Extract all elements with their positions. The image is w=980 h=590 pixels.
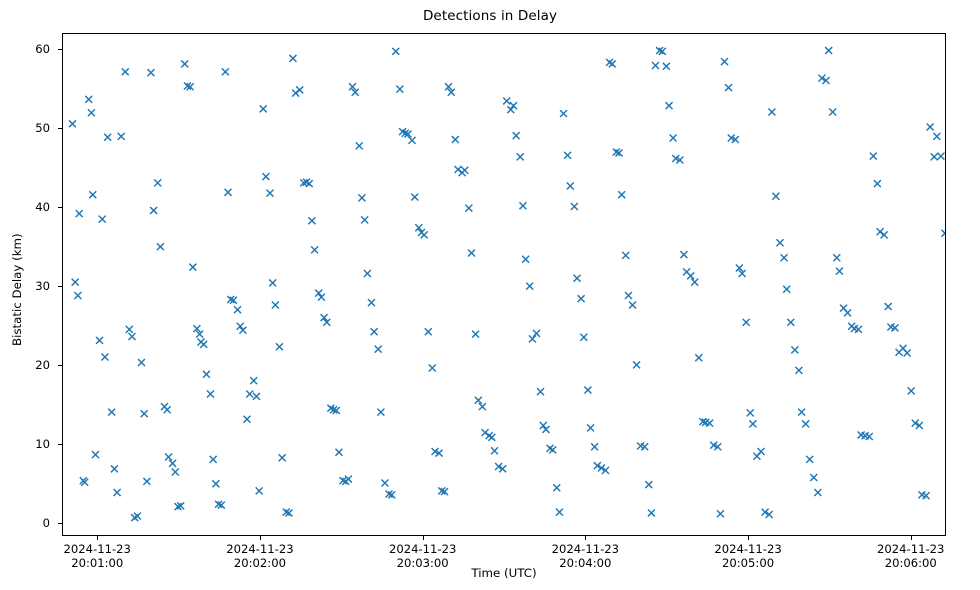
scatter-point xyxy=(618,191,625,198)
scatter-point xyxy=(234,306,241,313)
scatter-point xyxy=(101,353,108,360)
scatter-point xyxy=(147,69,154,76)
y-tick-mark xyxy=(58,286,62,287)
scatter-point xyxy=(584,387,591,394)
scatter-point xyxy=(465,205,472,212)
scatter-point xyxy=(783,286,790,293)
scatter-point xyxy=(580,334,587,341)
y-tick-label: 10 xyxy=(0,437,50,451)
scatter-point xyxy=(392,48,399,55)
scatter-point xyxy=(452,136,459,143)
y-tick-label: 20 xyxy=(0,358,50,372)
scatter-point xyxy=(791,346,798,353)
y-axis-label: Bistatic Delay (km) xyxy=(10,236,24,346)
scatter-point xyxy=(609,60,616,67)
y-tick-label: 50 xyxy=(0,121,50,135)
scatter-point xyxy=(652,62,659,69)
scatter-point xyxy=(513,132,520,139)
scatter-point xyxy=(225,189,232,196)
scatter-point xyxy=(472,331,479,338)
scatter-point xyxy=(69,120,76,127)
scatter-point xyxy=(747,409,754,416)
scatter-point xyxy=(421,231,428,238)
scatter-point xyxy=(296,86,303,93)
scatter-point xyxy=(381,480,388,487)
scatter-point xyxy=(680,251,687,258)
scatter-point xyxy=(461,167,468,174)
scatter-point xyxy=(567,183,574,190)
scatter-point xyxy=(237,323,244,330)
scatter-point xyxy=(758,448,765,455)
scatter-point xyxy=(749,420,756,427)
scatter-point xyxy=(776,239,783,246)
scatter-point xyxy=(691,279,698,286)
scatter-point xyxy=(633,361,640,368)
scatter-point xyxy=(529,335,536,342)
x-tick-mark xyxy=(423,536,424,540)
scatter-point xyxy=(725,84,732,91)
y-tick-mark xyxy=(58,207,62,208)
scatter-point xyxy=(622,252,629,259)
scatter-point xyxy=(829,108,836,115)
scatter-point xyxy=(262,173,269,180)
y-tick-label: 30 xyxy=(0,279,50,293)
scatter-point xyxy=(825,47,832,54)
scatter-point xyxy=(375,346,382,353)
scatter-point xyxy=(89,191,96,198)
scatter-point xyxy=(885,303,892,310)
scatter-point xyxy=(772,193,779,200)
scatter-point xyxy=(814,489,821,496)
scatter-point xyxy=(222,68,229,75)
scatter-point xyxy=(141,410,148,417)
scatter-point xyxy=(276,343,283,350)
scatter-point xyxy=(687,272,694,279)
y-tick-mark xyxy=(58,49,62,50)
scatter-point xyxy=(356,142,363,149)
x-tick-mark xyxy=(260,536,261,540)
scatter-point xyxy=(289,55,296,62)
scatter-point xyxy=(128,333,135,340)
scatter-point xyxy=(203,371,210,378)
scatter-point xyxy=(143,478,150,485)
scatter-point xyxy=(648,509,655,516)
scatter-point xyxy=(368,299,375,306)
scatter-point xyxy=(118,133,125,140)
scatter-point xyxy=(189,264,196,271)
scatter-point xyxy=(169,460,176,467)
scatter-point xyxy=(181,60,188,67)
scatter-point xyxy=(315,290,322,297)
scatter-point xyxy=(591,443,598,450)
scatter-point xyxy=(522,256,529,263)
matplotlib-figure: Detections in Delay 2024-11-2320:01:0020… xyxy=(0,0,980,590)
scatter-point xyxy=(92,451,99,458)
scatter-point xyxy=(553,484,560,491)
scatter-point xyxy=(743,319,750,326)
scatter-point xyxy=(411,194,418,201)
scatter-point xyxy=(645,481,652,488)
scatter-point xyxy=(488,434,495,441)
scatter-point xyxy=(409,137,416,144)
scatter-point xyxy=(468,250,475,257)
scatter-point xyxy=(908,387,915,394)
scatter-point xyxy=(578,295,585,302)
scatter-point xyxy=(269,279,276,286)
y-tick-mark xyxy=(58,365,62,366)
scatter-point xyxy=(250,377,257,384)
scatter-point xyxy=(833,254,840,261)
scatter-point xyxy=(200,341,207,348)
scatter-point xyxy=(503,97,510,104)
scatter-point xyxy=(104,134,111,141)
scatter-point xyxy=(787,319,794,326)
scatter-point xyxy=(479,403,486,410)
scatter-point xyxy=(927,123,934,130)
scatter-point xyxy=(318,294,325,301)
scatter-point xyxy=(874,180,881,187)
x-tick-mark xyxy=(585,536,586,540)
scatter-point xyxy=(134,513,141,520)
scatter-point xyxy=(507,106,514,113)
scatter-point xyxy=(266,190,273,197)
scatter-point xyxy=(364,270,371,277)
scatter-point xyxy=(533,330,540,337)
scatter-point xyxy=(526,283,533,290)
scatter-point xyxy=(663,63,670,70)
scatter-point xyxy=(345,476,352,483)
scatter-point xyxy=(243,416,250,423)
scatter-point xyxy=(844,309,851,316)
scatter-point xyxy=(108,409,115,416)
scatter-point xyxy=(272,301,279,308)
scatter-point xyxy=(138,359,145,366)
scatter-point xyxy=(556,509,563,516)
scatter-point xyxy=(781,254,788,261)
scatter-point xyxy=(802,420,809,427)
x-tick-mark xyxy=(748,536,749,540)
scatter-point xyxy=(721,58,728,65)
scatter-point xyxy=(625,292,632,299)
scatter-point xyxy=(931,153,938,160)
scatter-point xyxy=(96,337,103,344)
scatter-point xyxy=(933,133,940,140)
scatter-point xyxy=(542,426,549,433)
scatter-point xyxy=(396,86,403,93)
scatter-point xyxy=(361,216,368,223)
scatter-point xyxy=(311,246,318,253)
scatter-point xyxy=(164,406,171,413)
scatter-point xyxy=(377,409,384,416)
scatter-point xyxy=(279,454,286,461)
scatter-point xyxy=(798,409,805,416)
scatter-point xyxy=(806,456,813,463)
scatter-point xyxy=(564,152,571,159)
plot-axes-area xyxy=(62,33,946,536)
scatter-point xyxy=(85,96,92,103)
scatter-point xyxy=(870,153,877,160)
scatter-point xyxy=(881,231,888,238)
scatter-point xyxy=(537,388,544,395)
scatter-point xyxy=(239,327,246,334)
scatter-point xyxy=(768,108,775,115)
scatter-point xyxy=(475,397,482,404)
scatter-point xyxy=(207,391,214,398)
scatter-point xyxy=(429,365,436,372)
scatter-point xyxy=(666,102,673,109)
scatter-point xyxy=(88,109,95,116)
scatter-point xyxy=(74,292,81,299)
scatter-point xyxy=(99,216,106,223)
scatter-point xyxy=(306,180,313,187)
scatter-point xyxy=(72,279,79,286)
scatter-point xyxy=(670,134,677,141)
y-tick-mark xyxy=(58,444,62,445)
scatter-point xyxy=(154,179,161,186)
scatter-point xyxy=(425,328,432,335)
chart-title: Detections in Delay xyxy=(0,8,980,24)
scatter-point xyxy=(111,465,118,472)
scatter-point xyxy=(571,203,578,210)
scatter-point xyxy=(491,447,498,454)
y-tick-mark xyxy=(58,523,62,524)
scatter-point xyxy=(126,326,133,333)
y-tick-label: 40 xyxy=(0,200,50,214)
scatter-point xyxy=(308,217,315,224)
scatter-points-layer xyxy=(63,34,945,535)
scatter-point xyxy=(157,243,164,250)
scatter-point xyxy=(574,275,581,282)
scatter-point xyxy=(810,474,817,481)
scatter-point xyxy=(358,194,365,201)
scatter-point xyxy=(165,454,172,461)
scatter-point xyxy=(150,207,157,214)
scatter-point xyxy=(517,153,524,160)
scatter-point xyxy=(795,367,802,374)
scatter-point xyxy=(937,153,944,160)
scatter-point xyxy=(717,510,724,517)
scatter-point xyxy=(76,210,83,217)
scatter-point xyxy=(587,424,594,431)
x-axis-label: Time (UTC) xyxy=(62,566,946,580)
scatter-point xyxy=(114,489,121,496)
scatter-point xyxy=(172,468,179,475)
scatter-point xyxy=(256,487,263,494)
y-tick-label: 0 xyxy=(0,516,50,530)
y-tick-label: 60 xyxy=(0,42,50,56)
scatter-point xyxy=(510,102,517,109)
scatter-point xyxy=(371,328,378,335)
scatter-point xyxy=(519,202,526,209)
y-tick-mark xyxy=(58,128,62,129)
x-tick-mark xyxy=(911,536,912,540)
scatter-point xyxy=(253,393,260,400)
scatter-point xyxy=(560,110,567,117)
scatter-point xyxy=(246,391,253,398)
scatter-point xyxy=(904,350,911,357)
scatter-point xyxy=(629,301,636,308)
scatter-point xyxy=(335,449,342,456)
scatter-point xyxy=(210,456,217,463)
x-tick-mark xyxy=(97,536,98,540)
scatter-point xyxy=(540,422,547,429)
scatter-point xyxy=(122,68,129,75)
scatter-point xyxy=(695,354,702,361)
scatter-point xyxy=(260,105,267,112)
scatter-point xyxy=(212,480,219,487)
scatter-point xyxy=(942,230,945,237)
scatter-point xyxy=(836,268,843,275)
scatter-point xyxy=(549,446,556,453)
